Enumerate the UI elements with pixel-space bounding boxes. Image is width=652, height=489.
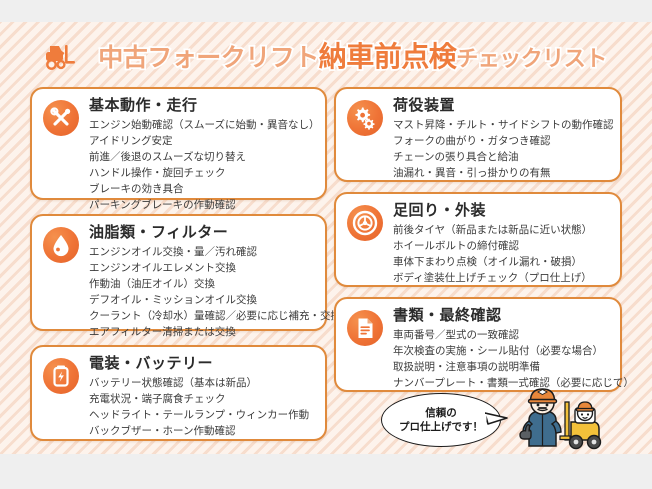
- list-item: クーラント（冷却水）量確認／必要に応じ補充・交換: [89, 308, 315, 324]
- card-title: 油脂類・フィルター: [89, 225, 315, 242]
- checklist: バッテリー状態確認（基本は新品） 充電状況・端子腐食チェック ヘッドライト・テー…: [89, 375, 315, 439]
- list-item: 作動油（油圧オイル）交換: [89, 276, 315, 292]
- oil-droplet-icon: [43, 227, 79, 263]
- wrench-screwdriver-icon: [43, 100, 79, 136]
- card-documents-final: 書類・最終確認 車両番号／型式の一致確認 年次検査の実施・シール貼付（必要な場合…: [334, 297, 622, 392]
- checklist: エンジンオイル交換・量／汚れ確認 エンジンオイルエレメント交換 作動油（油圧オイ…: [89, 244, 315, 340]
- card-title: 足回り・外装: [393, 203, 610, 220]
- document-icon: [347, 310, 383, 346]
- list-item: バッテリー状態確認（基本は新品）: [89, 375, 315, 391]
- forklift-icon: [45, 43, 89, 71]
- bubble-line-1: 信頼の: [425, 406, 457, 420]
- card-basic-operation: 基本動作・走行 エンジン始動確認（スムーズに始動・異音なし） アイドリング安定 …: [30, 87, 327, 200]
- list-item: ボディ塗装仕上げチェック（プロ仕上げ）: [393, 270, 610, 286]
- forklift-mascot: [560, 402, 601, 449]
- checklist: エンジン始動確認（スムーズに始動・異音なし） アイドリング安定 前進／後退のスム…: [89, 117, 315, 213]
- speech-bubble: 信頼の プロ仕上げです！: [381, 393, 511, 451]
- card-title: 荷役装置: [393, 98, 610, 115]
- list-item: パーキングブレーキの作動確認: [89, 197, 315, 213]
- list-item: フォークの曲がり・ガタつき確認: [393, 133, 610, 149]
- card-title: 書類・最終確認: [393, 308, 610, 325]
- list-item: エンジンオイルエレメント交換: [89, 260, 315, 276]
- list-item: 油漏れ・異音・引っ掛かりの有無: [393, 165, 610, 181]
- list-item: デフオイル・ミッションオイル交換: [89, 292, 315, 308]
- list-item: ヘッドライト・テールランプ・ウィンカー作動: [89, 407, 315, 423]
- list-item: 年次検査の実施・シール貼付（必要な場合）: [393, 343, 610, 359]
- list-item: 前後タイヤ（新品または新品に近い状態）: [393, 222, 610, 238]
- poster-canvas: 中古フォークリフト納車前点検チェックリスト 基本動作・走行 エンジン始動確認（ス…: [0, 0, 652, 489]
- list-item: 取扱説明・注意事項の説明準備: [393, 359, 610, 375]
- page-title: 中古フォークリフト納車前点検チェックリスト: [0, 36, 652, 78]
- card-electrical-battery: 電装・バッテリー バッテリー状態確認（基本は新品） 充電状況・端子腐食チェック …: [30, 345, 327, 441]
- list-item: 車体下まわり点検（オイル漏れ・破損）: [393, 254, 610, 270]
- list-item: エアフィルター清掃または交換: [89, 324, 315, 340]
- battery-icon: [43, 358, 79, 394]
- title-light-prefix: 中古フォークリフト: [98, 44, 319, 72]
- worker-figure: [520, 389, 561, 446]
- list-item: 充電状況・端子腐食チェック: [89, 391, 315, 407]
- checklist: マスト昇降・チルト・サイドシフトの動作確認 フォークの曲がり・ガタつき確認 チェ…: [393, 117, 610, 181]
- list-item: マスト昇降・チルト・サイドシフトの動作確認: [393, 117, 610, 133]
- card-oils-filters: 油脂類・フィルター エンジンオイル交換・量／汚れ確認 エンジンオイルエレメント交…: [30, 214, 327, 331]
- bubble-line-2: プロ仕上げです！: [399, 420, 483, 434]
- checklist: 車両番号／型式の一致確認 年次検査の実施・シール貼付（必要な場合） 取扱説明・注…: [393, 327, 610, 391]
- tire-wheel-icon: [347, 205, 383, 241]
- worker-and-forklift-illustration: [505, 384, 610, 456]
- list-item: ハンドル操作・旋回チェック: [89, 165, 315, 181]
- title-light-suffix: チェックリスト: [456, 46, 607, 71]
- title-strong: 納車前点検: [319, 41, 457, 72]
- list-item: エンジンオイル交換・量／汚れ確認: [89, 244, 315, 260]
- card-cargo-handling: 荷役装置 マスト昇降・チルト・サイドシフトの動作確認 フォークの曲がり・ガタつき…: [334, 87, 622, 182]
- list-item: バックブザー・ホーン作動確認: [89, 423, 315, 439]
- list-item: チェーンの張り具合と給油: [393, 149, 610, 165]
- list-item: 前進／後退のスムーズな切り替え: [89, 149, 315, 165]
- card-undercarriage-exterior: 足回り・外装 前後タイヤ（新品または新品に近い状態） ホイールボルトの締付確認 …: [334, 192, 622, 287]
- card-title: 電装・バッテリー: [89, 356, 315, 373]
- list-item: ホイールボルトの締付確認: [393, 238, 610, 254]
- gears-icon: [347, 100, 383, 136]
- list-item: 車両番号／型式の一致確認: [393, 327, 610, 343]
- checklist: 前後タイヤ（新品または新品に近い状態） ホイールボルトの締付確認 車体下まわり点…: [393, 222, 610, 286]
- card-title: 基本動作・走行: [89, 98, 315, 115]
- list-item: エンジン始動確認（スムーズに始動・異音なし）: [89, 117, 315, 133]
- list-item: ブレーキの効き具合: [89, 181, 315, 197]
- list-item: アイドリング安定: [89, 133, 315, 149]
